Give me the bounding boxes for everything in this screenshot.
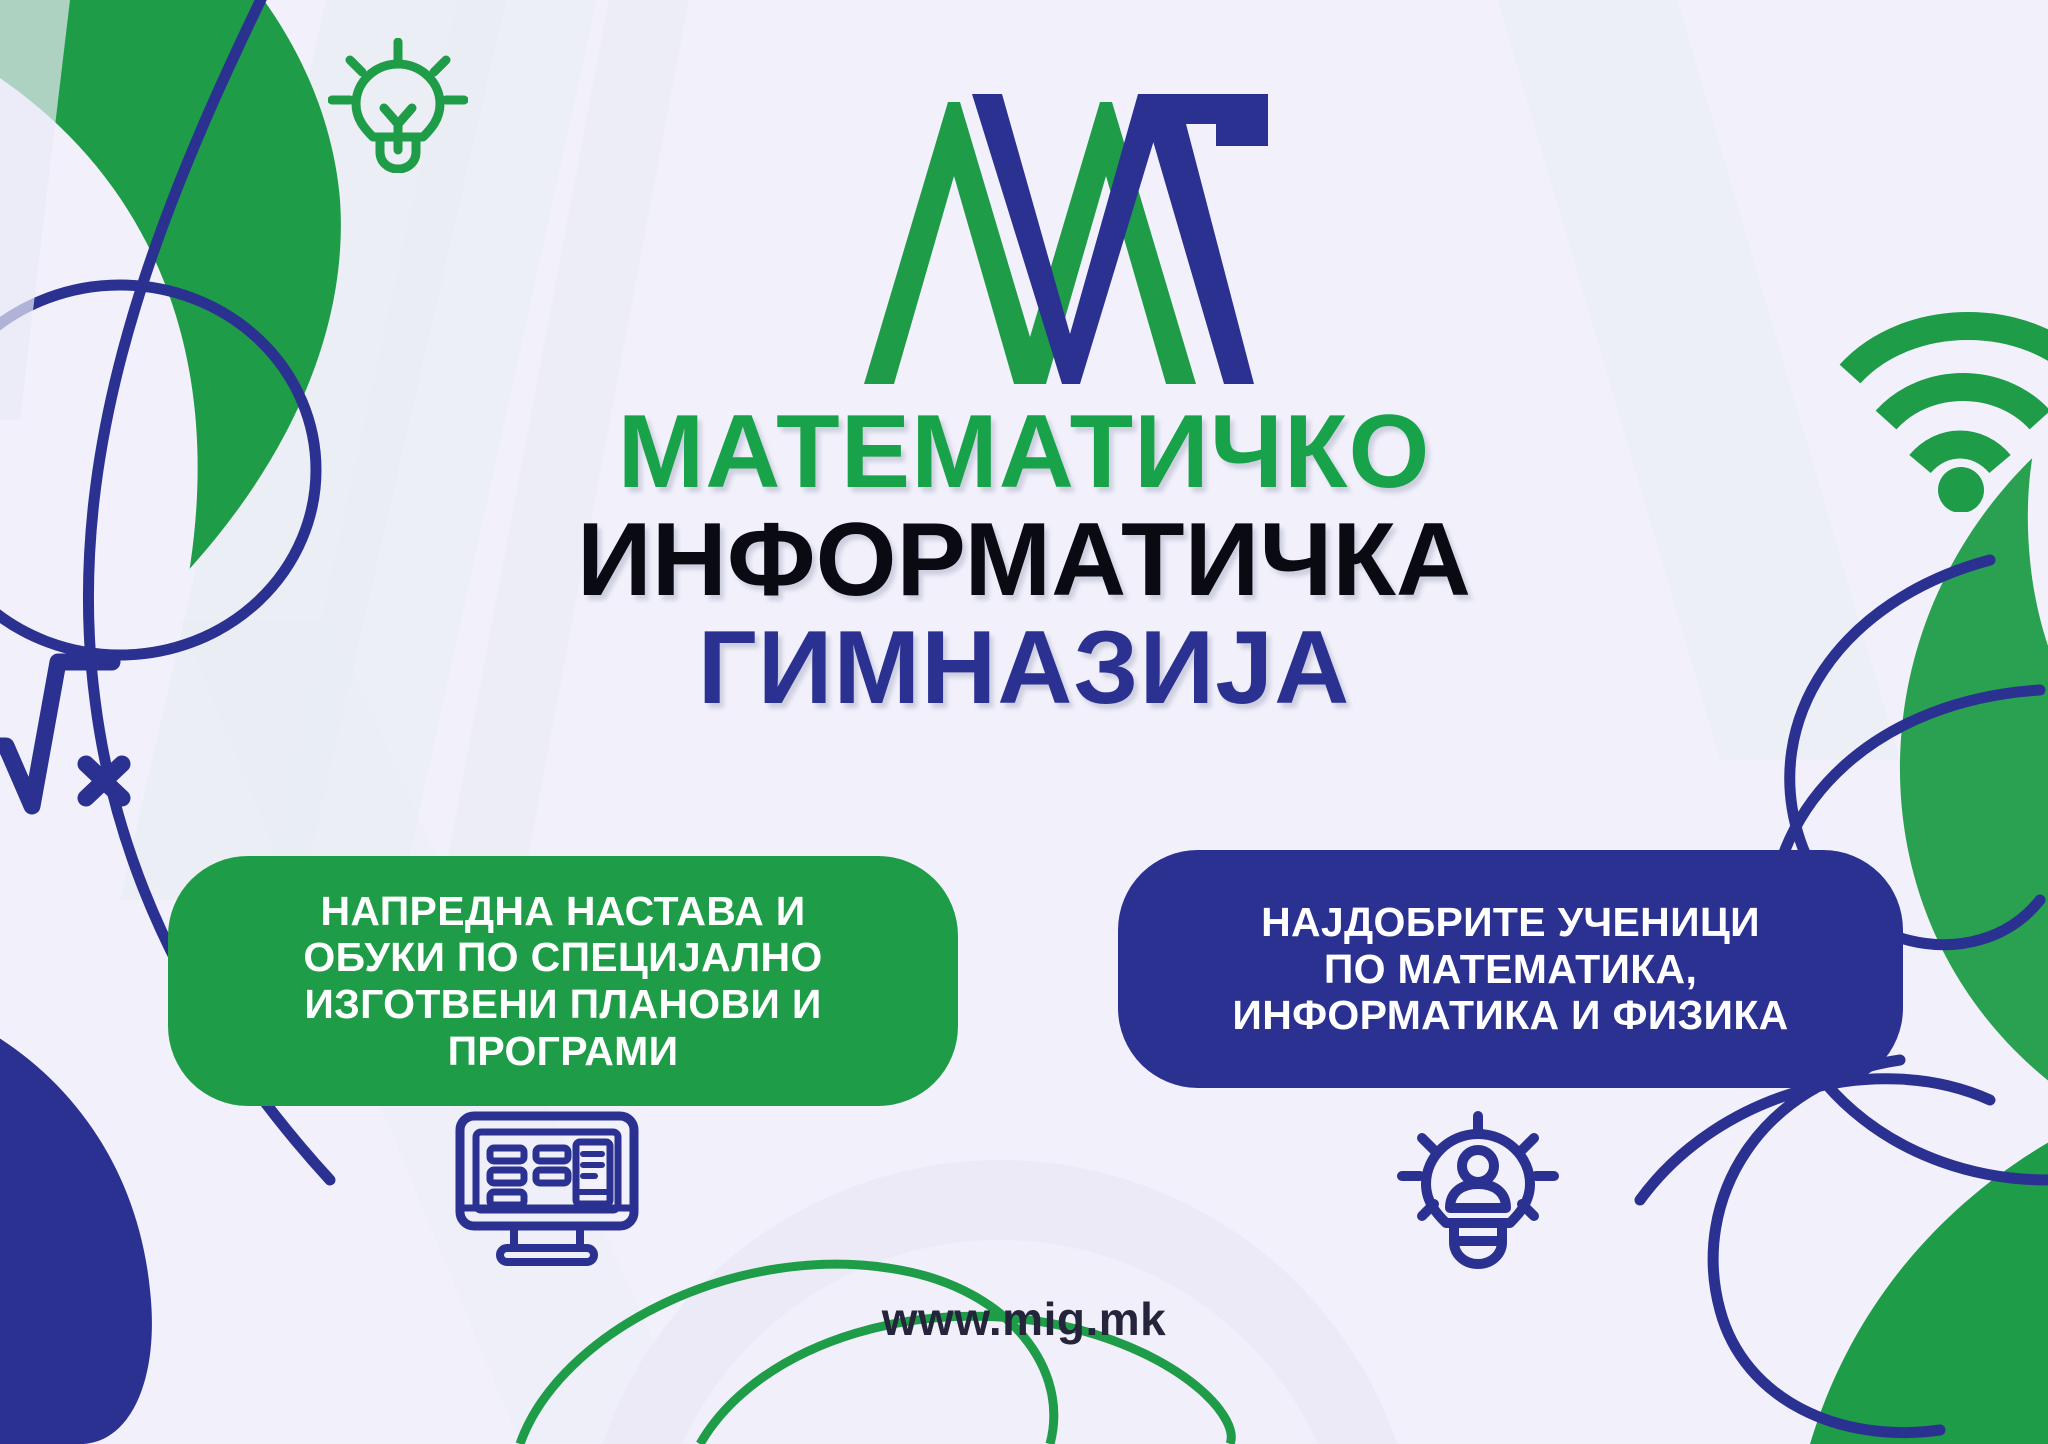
pill-green-line-1: НАПРЕДНА НАСТАВА И: [303, 888, 822, 935]
feature-badge-blue-text: НАЈДОБРИТЕ УЧЕНИЦИ ПО МАТЕМАТИКА, ИНФОРМ…: [1232, 899, 1788, 1039]
wifi-icon: [1838, 312, 2048, 512]
square-root-icon: [0, 640, 180, 820]
website-url[interactable]: www.mig.mk: [0, 1292, 2048, 1346]
title-line-gimnazija: ГИМНАЗИЈА: [0, 616, 2048, 720]
feature-badge-green[interactable]: НАПРЕДНА НАСТАВА И ОБУКИ ПО СПЕЦИЈАЛНО И…: [168, 856, 958, 1106]
feature-badge-blue[interactable]: НАЈДОБРИТЕ УЧЕНИЦИ ПО МАТЕМАТИКА, ИНФОРМ…: [1118, 850, 1903, 1088]
desktop-monitor-icon: [452, 1108, 642, 1280]
poster-root: МАТЕМАТИЧКО ИНФОРМАТИЧКА ГИМНАЗИЈА НАПРЕ…: [0, 0, 2048, 1444]
mig-logo: [856, 84, 1276, 389]
lightbulb-person-icon: [1388, 1108, 1568, 1283]
pill-green-line-3: ИЗГОТВЕНИ ПЛАНОВИ И: [303, 981, 822, 1028]
feature-badge-green-text: НАПРЕДНА НАСТАВА И ОБУКИ ПО СПЕЦИЈАЛНО И…: [303, 888, 822, 1075]
pill-blue-line-3: ИНФОРМАТИКА И ФИЗИКА: [1232, 992, 1788, 1039]
title-line-matematicko: МАТЕМАТИЧКО: [0, 400, 2048, 504]
page-title: МАТЕМАТИЧКО ИНФОРМАТИЧКА ГИМНАЗИЈА: [0, 400, 2048, 720]
pill-blue-line-2: ПО МАТЕМАТИКА,: [1232, 946, 1788, 993]
pill-green-line-2: ОБУКИ ПО СПЕЦИЈАЛНО: [303, 934, 822, 981]
lightbulb-icon: [328, 38, 468, 173]
multiplication-x-icon: [86, 764, 122, 798]
title-line-informaticka: ИНФОРМАТИЧКА: [0, 508, 2048, 612]
pill-blue-line-1: НАЈДОБРИТЕ УЧЕНИЦИ: [1232, 899, 1788, 946]
pill-green-line-4: ПРОГРАМИ: [303, 1028, 822, 1075]
